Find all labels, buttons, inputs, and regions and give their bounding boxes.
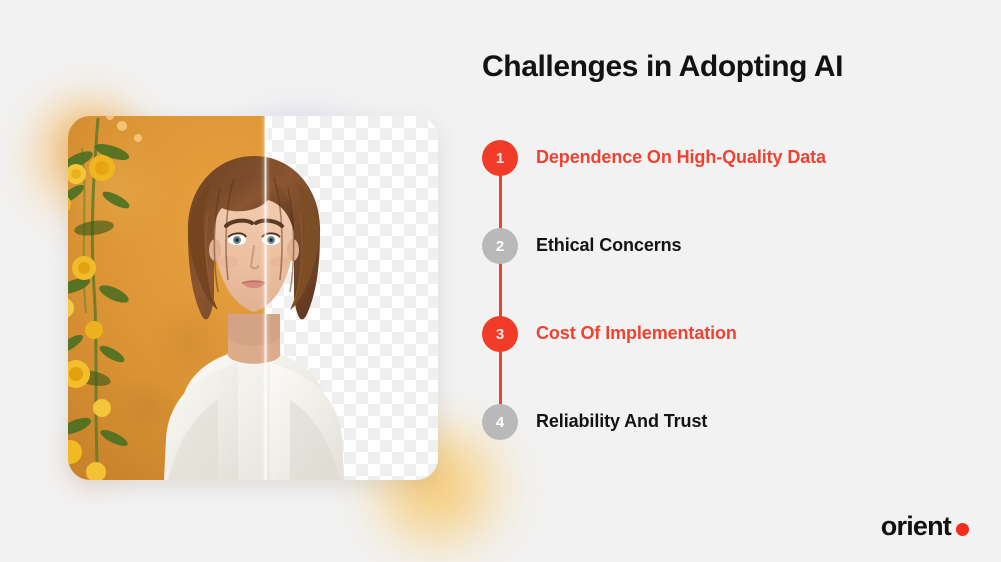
slide-root: Challenges in Adopting AI 1 Dependence O… [0, 0, 1001, 562]
timeline-label-2: Ethical Concerns [536, 235, 681, 256]
before-after-divider[interactable] [264, 116, 267, 480]
list-item[interactable]: 1 Dependence On High-Quality Data [482, 140, 992, 228]
visual-area [0, 0, 470, 562]
timeline-badge-2: 2 [482, 228, 518, 264]
list-item[interactable]: 4 Reliability And Trust [482, 404, 992, 492]
list-item[interactable]: 2 Ethical Concerns [482, 228, 992, 316]
logo-wordmark: orient [881, 513, 951, 540]
timeline-badge-4: 4 [482, 404, 518, 440]
page-title: Challenges in Adopting AI [482, 50, 843, 84]
challenges-timeline: 1 Dependence On High-Quality Data 2 Ethi… [482, 140, 992, 492]
list-item[interactable]: 3 Cost Of Implementation [482, 316, 992, 404]
timeline-badge-1: 1 [482, 140, 518, 176]
orient-logo[interactable]: orient [881, 513, 969, 540]
content-area: Challenges in Adopting AI 1 Dependence O… [470, 0, 1001, 562]
timeline-label-4: Reliability And Trust [536, 411, 707, 432]
timeline-label-1: Dependence On High-Quality Data [536, 147, 826, 168]
logo-dot-icon [956, 523, 969, 536]
timeline-label-3: Cost Of Implementation [536, 323, 737, 344]
before-after-image-card [68, 116, 438, 480]
timeline-badge-3: 3 [482, 316, 518, 352]
subject-portrait [68, 116, 438, 480]
